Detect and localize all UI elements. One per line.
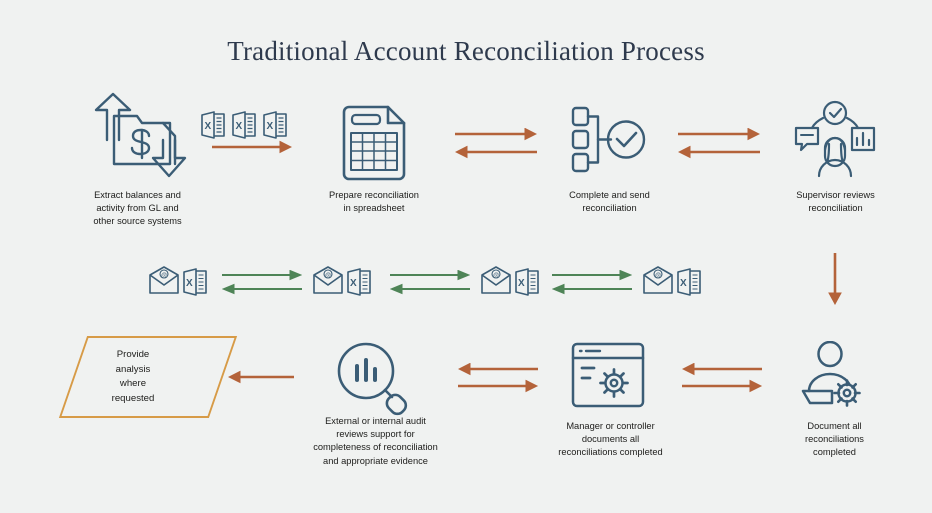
svg-text:X: X	[518, 278, 525, 289]
email-excel-pair-1: X @	[148, 265, 214, 304]
caption-manager-documents: Manager or controller documents all reco…	[533, 420, 688, 460]
single-left-orange-arrow	[228, 370, 294, 389]
caption-prepare-reconciliation: Prepare reconciliation in spreadsheet	[300, 189, 448, 215]
svg-text:@: @	[325, 273, 331, 279]
email-excel-pair-4: X @	[642, 265, 708, 304]
double-green-arrow	[552, 270, 632, 301]
person-gear-icon	[800, 341, 872, 412]
double-orange-arrow-left-top	[458, 363, 540, 400]
double-orange-arrow	[678, 128, 760, 167]
svg-text:X: X	[267, 121, 274, 132]
svg-text:X: X	[186, 278, 193, 289]
svg-text:X: X	[350, 278, 357, 289]
supervisor-review-person-icon	[793, 100, 877, 183]
spreadsheet-document-icon	[340, 104, 408, 187]
double-green-arrow	[390, 270, 470, 301]
caption-supervisor-reviews: Supervisor reviews reconciliation	[768, 189, 903, 215]
svg-text:@: @	[655, 273, 661, 279]
diagram-canvas: Traditional Account Reconciliation Proce…	[0, 0, 932, 513]
double-green-arrow	[222, 270, 302, 301]
folder-dollar-updown-arrows-icon	[85, 92, 190, 185]
caption-audit-review: External or internal audit reviews suppo…	[293, 415, 458, 468]
caption-document-all: Document all reconciliations completed	[772, 420, 897, 460]
caption-extract-balances: Extract balances and activity from GL an…	[65, 189, 210, 229]
page-title: Traditional Account Reconciliation Proce…	[0, 36, 932, 67]
svg-text:X: X	[205, 121, 212, 132]
double-orange-arrow-left-top	[682, 363, 764, 400]
workflow-checkmark-icon	[570, 104, 648, 181]
single-down-orange-arrow	[827, 253, 843, 310]
browser-window-gear-icon	[570, 341, 646, 414]
svg-text:@: @	[493, 273, 499, 279]
caption-provide-analysis: Provide analysis where requested	[58, 348, 208, 406]
svg-text:@: @	[161, 273, 167, 279]
magnifier-bar-chart-icon	[335, 340, 411, 421]
email-excel-pair-2: X @	[312, 265, 378, 304]
double-orange-arrow	[455, 128, 537, 167]
svg-text:X: X	[236, 121, 243, 132]
email-excel-pair-3: X @	[480, 265, 546, 304]
caption-complete-and-send: Complete and send reconciliation	[537, 189, 682, 215]
svg-text:X: X	[680, 278, 687, 289]
single-right-orange-arrow	[212, 140, 292, 159]
